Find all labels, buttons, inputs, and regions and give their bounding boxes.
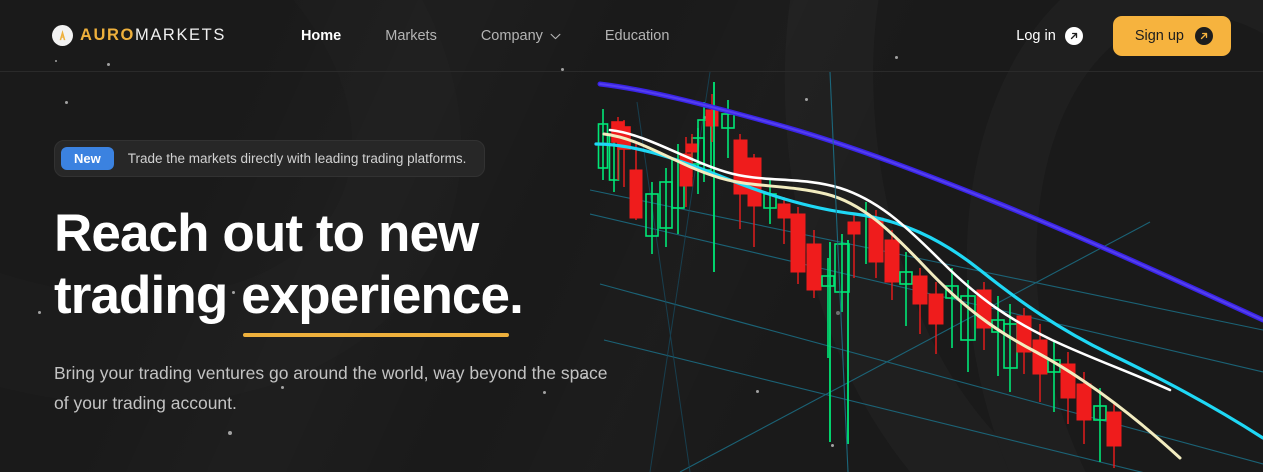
hero-chart-artwork: [590, 72, 1263, 472]
site-header: AUROMARKETS Home Markets Company Educati…: [0, 0, 1263, 72]
arrow-up-right-circle-icon: [1065, 27, 1083, 45]
login-button[interactable]: Log in: [1016, 27, 1083, 45]
badge-new-tag: New: [61, 147, 114, 170]
particle-dot: [38, 311, 41, 314]
brand-logo[interactable]: AUROMARKETS: [52, 25, 226, 46]
hero-subtitle: Bring your trading ventures go around th…: [54, 358, 614, 418]
hero-headline: Reach out to new trading experience.: [54, 203, 614, 327]
brand-name-primary: AURO: [80, 26, 135, 44]
hero-headline-line2-underlined: experience.: [241, 265, 523, 327]
nav-item-company[interactable]: Company: [481, 28, 561, 44]
nav-item-home[interactable]: Home: [301, 28, 341, 44]
hero-section: New Trade the markets directly with lead…: [54, 140, 614, 418]
brand-name: AUROMARKETS: [80, 26, 226, 45]
header-actions: Log in Sign up: [1016, 16, 1231, 56]
arrow-up-right-circle-icon: [1195, 27, 1213, 45]
landing-page: AUROMARKETS Home Markets Company Educati…: [0, 0, 1263, 472]
login-label: Log in: [1016, 28, 1056, 44]
particle-dot: [65, 101, 68, 104]
nav-item-markets-label: Markets: [385, 28, 437, 44]
signup-label: Sign up: [1135, 28, 1184, 44]
particle-dot: [228, 431, 232, 435]
badge-message: Trade the markets directly with leading …: [128, 151, 467, 166]
hero-announcement-badge[interactable]: New Trade the markets directly with lead…: [54, 140, 485, 177]
main-navigation: Home Markets Company Education: [301, 28, 669, 44]
brand-name-secondary: MARKETS: [135, 26, 226, 44]
chevron-down-icon: [550, 28, 561, 44]
hero-headline-line1: Reach out to new: [54, 204, 478, 263]
nav-item-home-label: Home: [301, 28, 341, 44]
nav-item-markets[interactable]: Markets: [385, 28, 437, 44]
auro-a-mark-icon: [52, 25, 73, 46]
nav-item-education[interactable]: Education: [605, 28, 670, 44]
signup-button[interactable]: Sign up: [1113, 16, 1231, 56]
hero-headline-line2-plain: trading: [54, 266, 241, 325]
nav-item-company-label: Company: [481, 28, 543, 44]
nav-item-education-label: Education: [605, 28, 670, 44]
